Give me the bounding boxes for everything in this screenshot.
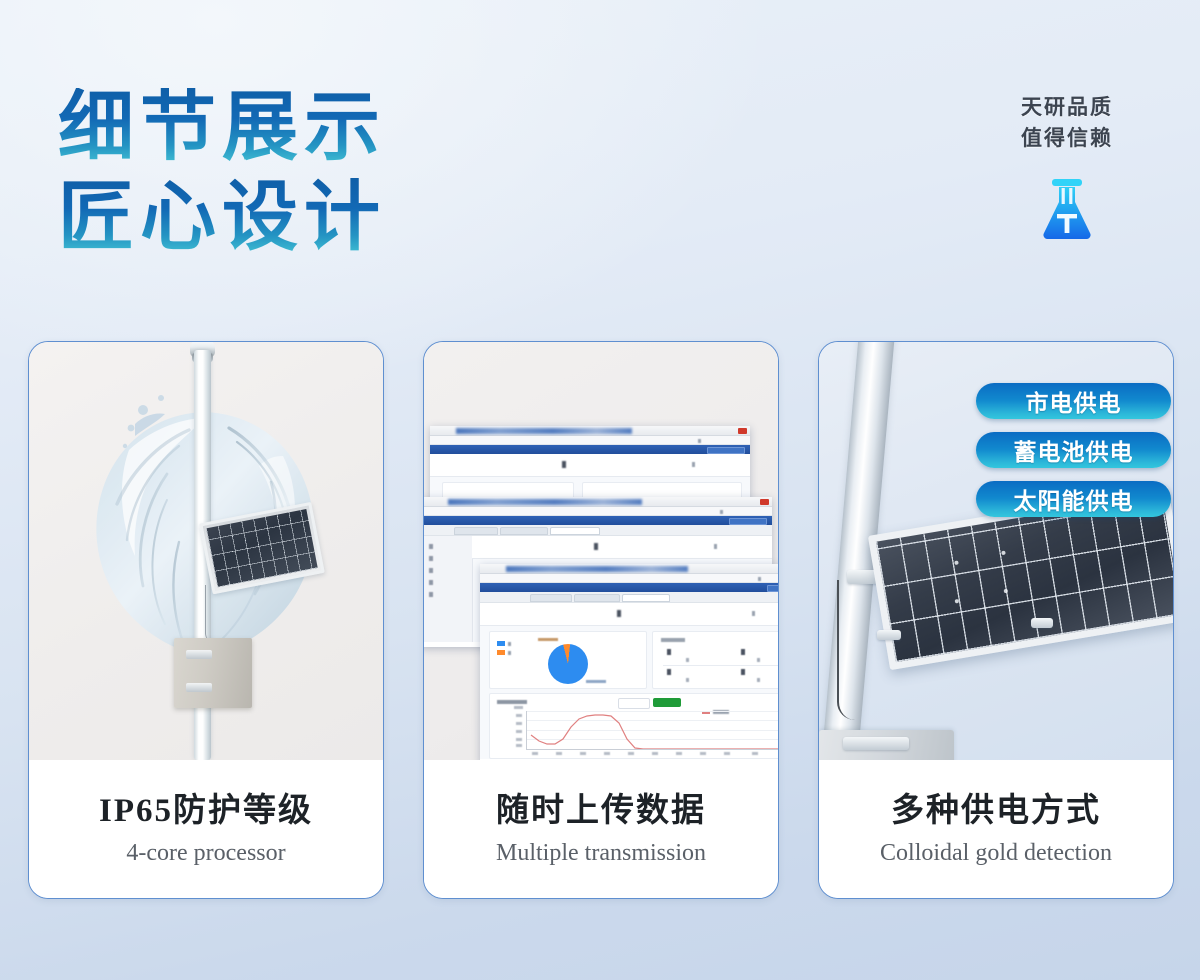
power-cable [837, 580, 855, 720]
stat-label [757, 678, 778, 682]
brand-block: 天研品质 值得信赖 [982, 92, 1152, 244]
card-caption-upload: 随时上传数据 Multiple transmission [424, 760, 778, 898]
power-badge-solar[interactable]: 太阳能供电 [976, 481, 1171, 517]
export-button[interactable] [653, 698, 681, 707]
title-line-2: 匠心设计 [58, 178, 386, 258]
card-caption-ip65: IP65防护等级 4-core processor [29, 760, 383, 898]
app-navbar [424, 516, 772, 525]
page-header: 细节展示 匠心设计 天研品质 值得信赖 [0, 0, 1200, 320]
stat-item [741, 669, 778, 682]
stat-item [667, 669, 731, 682]
bracket-upper [186, 650, 212, 659]
app-navbar [480, 583, 778, 592]
feature-card-power[interactable]: 市电供电 蓄电池供电 太阳能供电 多种供电方式 Colloidal gold d… [818, 341, 1174, 899]
tab-item[interactable] [530, 594, 572, 602]
tab-strip[interactable] [424, 525, 772, 536]
stat-item [741, 649, 778, 662]
sidebar-nav[interactable] [424, 536, 473, 642]
sidebar-item[interactable] [429, 556, 463, 561]
pie-annotation-bottom [586, 680, 606, 683]
browser-toolbar[interactable] [424, 507, 772, 516]
page-heading-bar [472, 536, 772, 559]
sidebar-item[interactable] [429, 568, 463, 573]
window-titlebar [430, 426, 750, 436]
card-media-solar-panel: 市电供电 蓄电池供电 太阳能供电 [819, 342, 1173, 760]
panel-bracket-right [1031, 618, 1053, 628]
caption-cn: IP65防护等级 [99, 791, 313, 831]
caption-en: Multiple transmission [496, 840, 706, 867]
window-title-text [448, 499, 642, 505]
sidebar-item[interactable] [429, 544, 463, 549]
solar-cells [876, 494, 1173, 662]
stat-label [686, 658, 712, 662]
power-badge-battery[interactable]: 蓄电池供电 [976, 432, 1171, 468]
date-select[interactable] [618, 698, 650, 709]
power-badge-list: 市电供电 蓄电池供电 太阳能供电 [976, 383, 1171, 517]
stat-item [667, 649, 731, 662]
stat-label [686, 678, 712, 682]
stat-value [741, 669, 778, 675]
stat-label [757, 658, 778, 662]
window-content [480, 603, 778, 759]
tab-item[interactable] [454, 527, 498, 535]
legend-swatch-online [497, 641, 505, 646]
caption-cn: 多种供电方式 [891, 791, 1101, 831]
close-icon[interactable] [738, 428, 747, 434]
flask-icon [982, 176, 1152, 244]
tab-item[interactable] [574, 594, 620, 602]
feature-card-row: IP65防护等级 4-core processor [0, 341, 1200, 901]
pole-clamp-lower [843, 737, 909, 750]
stats-panel [652, 631, 778, 689]
title-line-1: 细节展示 [58, 88, 386, 168]
caption-en: 4-core processor [126, 840, 285, 867]
browser-toolbar[interactable] [430, 436, 750, 445]
page-timestamp [714, 544, 762, 549]
window-title-text [506, 566, 688, 572]
legend-swatch-offline [497, 650, 505, 655]
pie-chart-panel [489, 631, 647, 689]
panel-bracket-left [877, 630, 901, 640]
brand-line-1: 天研品质 [982, 92, 1152, 123]
card-media-dashboard-windows [424, 342, 778, 760]
bracket-lower [186, 683, 212, 692]
stats-divider [663, 665, 778, 666]
pie-annotation-top [538, 638, 558, 641]
brand-line-2: 值得信赖 [982, 123, 1152, 154]
tab-strip[interactable] [480, 592, 778, 603]
stats-panel-title [661, 638, 685, 642]
caption-cn: 随时上传数据 [496, 791, 706, 831]
window-titlebar [424, 497, 772, 507]
page-heading-text [594, 543, 650, 550]
page-heading-text [562, 461, 618, 468]
tab-item-active[interactable] [550, 527, 600, 535]
solar-cells [206, 509, 318, 587]
window-titlebar [480, 564, 778, 574]
sidebar-item[interactable] [429, 592, 463, 597]
page-heading-bar [480, 603, 778, 626]
page-title: 细节展示 匠心设计 [58, 88, 386, 258]
power-badge-mains[interactable]: 市电供电 [976, 383, 1171, 419]
page-timestamp [692, 462, 740, 467]
window-title-text [456, 428, 632, 434]
browser-window-front[interactable] [480, 564, 778, 760]
page-timestamp [752, 611, 778, 616]
pie-chart [548, 644, 588, 684]
close-icon[interactable] [760, 499, 769, 505]
trend-line-series [527, 711, 778, 749]
feature-card-upload[interactable]: 随时上传数据 Multiple transmission [423, 341, 779, 899]
tab-item[interactable] [500, 527, 548, 535]
stat-value [667, 669, 731, 675]
enclosure-box [174, 638, 252, 708]
legend-label-online [508, 642, 530, 646]
stat-value [667, 649, 731, 655]
caption-en: Colloidal gold detection [880, 840, 1112, 867]
sidebar-item[interactable] [429, 580, 463, 585]
tab-item-active[interactable] [622, 594, 670, 602]
trend-chart-title [497, 700, 527, 704]
browser-toolbar[interactable] [480, 574, 778, 583]
card-caption-power: 多种供电方式 Colloidal gold detection [819, 760, 1173, 898]
trend-chart-axes [526, 711, 778, 750]
app-navbar [430, 445, 750, 454]
page-heading-bar [430, 454, 750, 477]
stat-value [741, 649, 778, 655]
feature-card-ip65[interactable]: IP65防护等级 4-core processor [28, 341, 384, 899]
trend-chart-panel [489, 693, 778, 759]
card-media-water-splash [29, 342, 383, 760]
page-heading-text [617, 610, 673, 617]
legend-label-offline [508, 651, 530, 655]
